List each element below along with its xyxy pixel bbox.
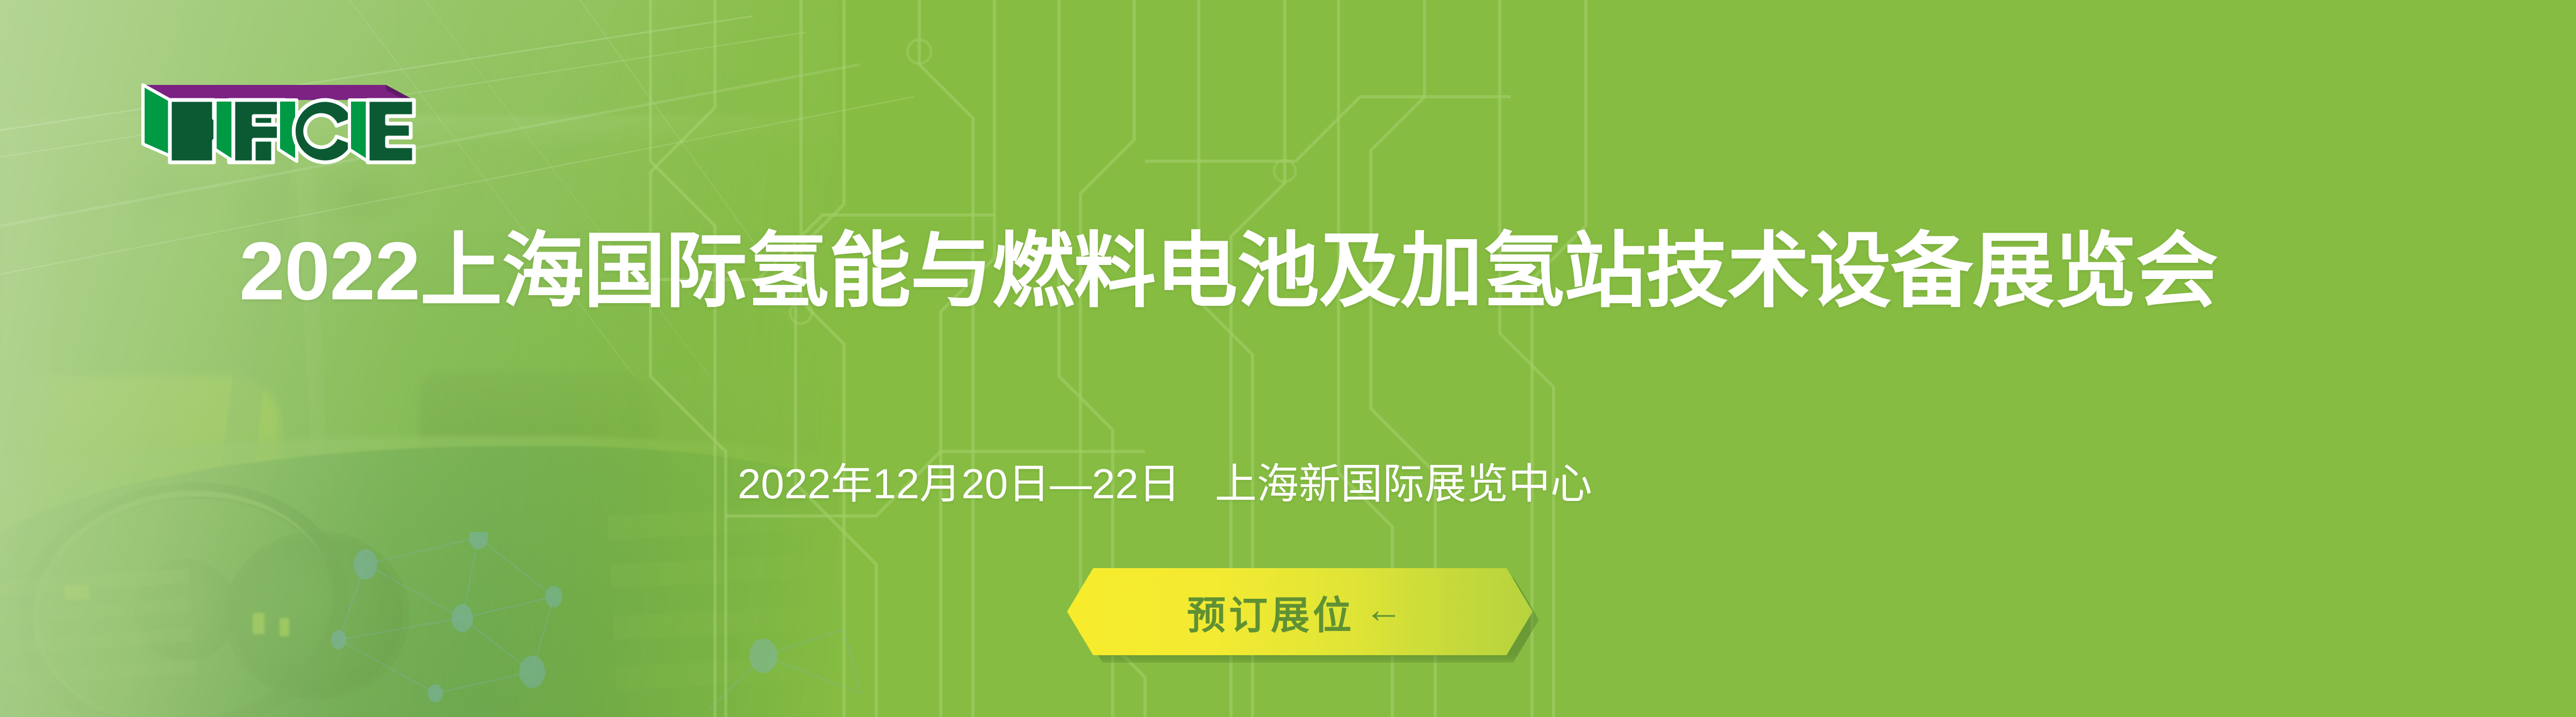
logo-letter-E bbox=[349, 100, 414, 162]
cta-label: 预订展位 bbox=[1187, 584, 1355, 640]
logo-roof-top bbox=[143, 85, 414, 100]
circuit-trace-pattern bbox=[618, 0, 2576, 717]
event-date-venue: 2022年12月20日—22日上海新国际展览中心 bbox=[738, 450, 1592, 511]
event-date: 2022年12月20日—22日 bbox=[738, 460, 1180, 507]
exhibition-banner: 2022上海国际氢能与燃料电池及加氢站技术设备展览会 2022年12月20日—2… bbox=[0, 0, 2576, 717]
book-booth-button[interactable]: 预订展位 ← bbox=[1067, 568, 1533, 655]
event-venue: 上海新国际展览中心 bbox=[1215, 460, 1592, 507]
page-title: 2022上海国际氢能与燃料电池及加氢站技术设备展览会 bbox=[239, 228, 2336, 315]
hfce-logo[interactable] bbox=[139, 81, 418, 167]
book-booth-cta-wrapper[interactable]: 预订展位 ← bbox=[1067, 568, 1540, 665]
cta-label-group: 预订展位 ← bbox=[1187, 584, 1406, 640]
left-arrow-icon: ← bbox=[1364, 590, 1406, 629]
logo-letter-C bbox=[278, 100, 354, 162]
